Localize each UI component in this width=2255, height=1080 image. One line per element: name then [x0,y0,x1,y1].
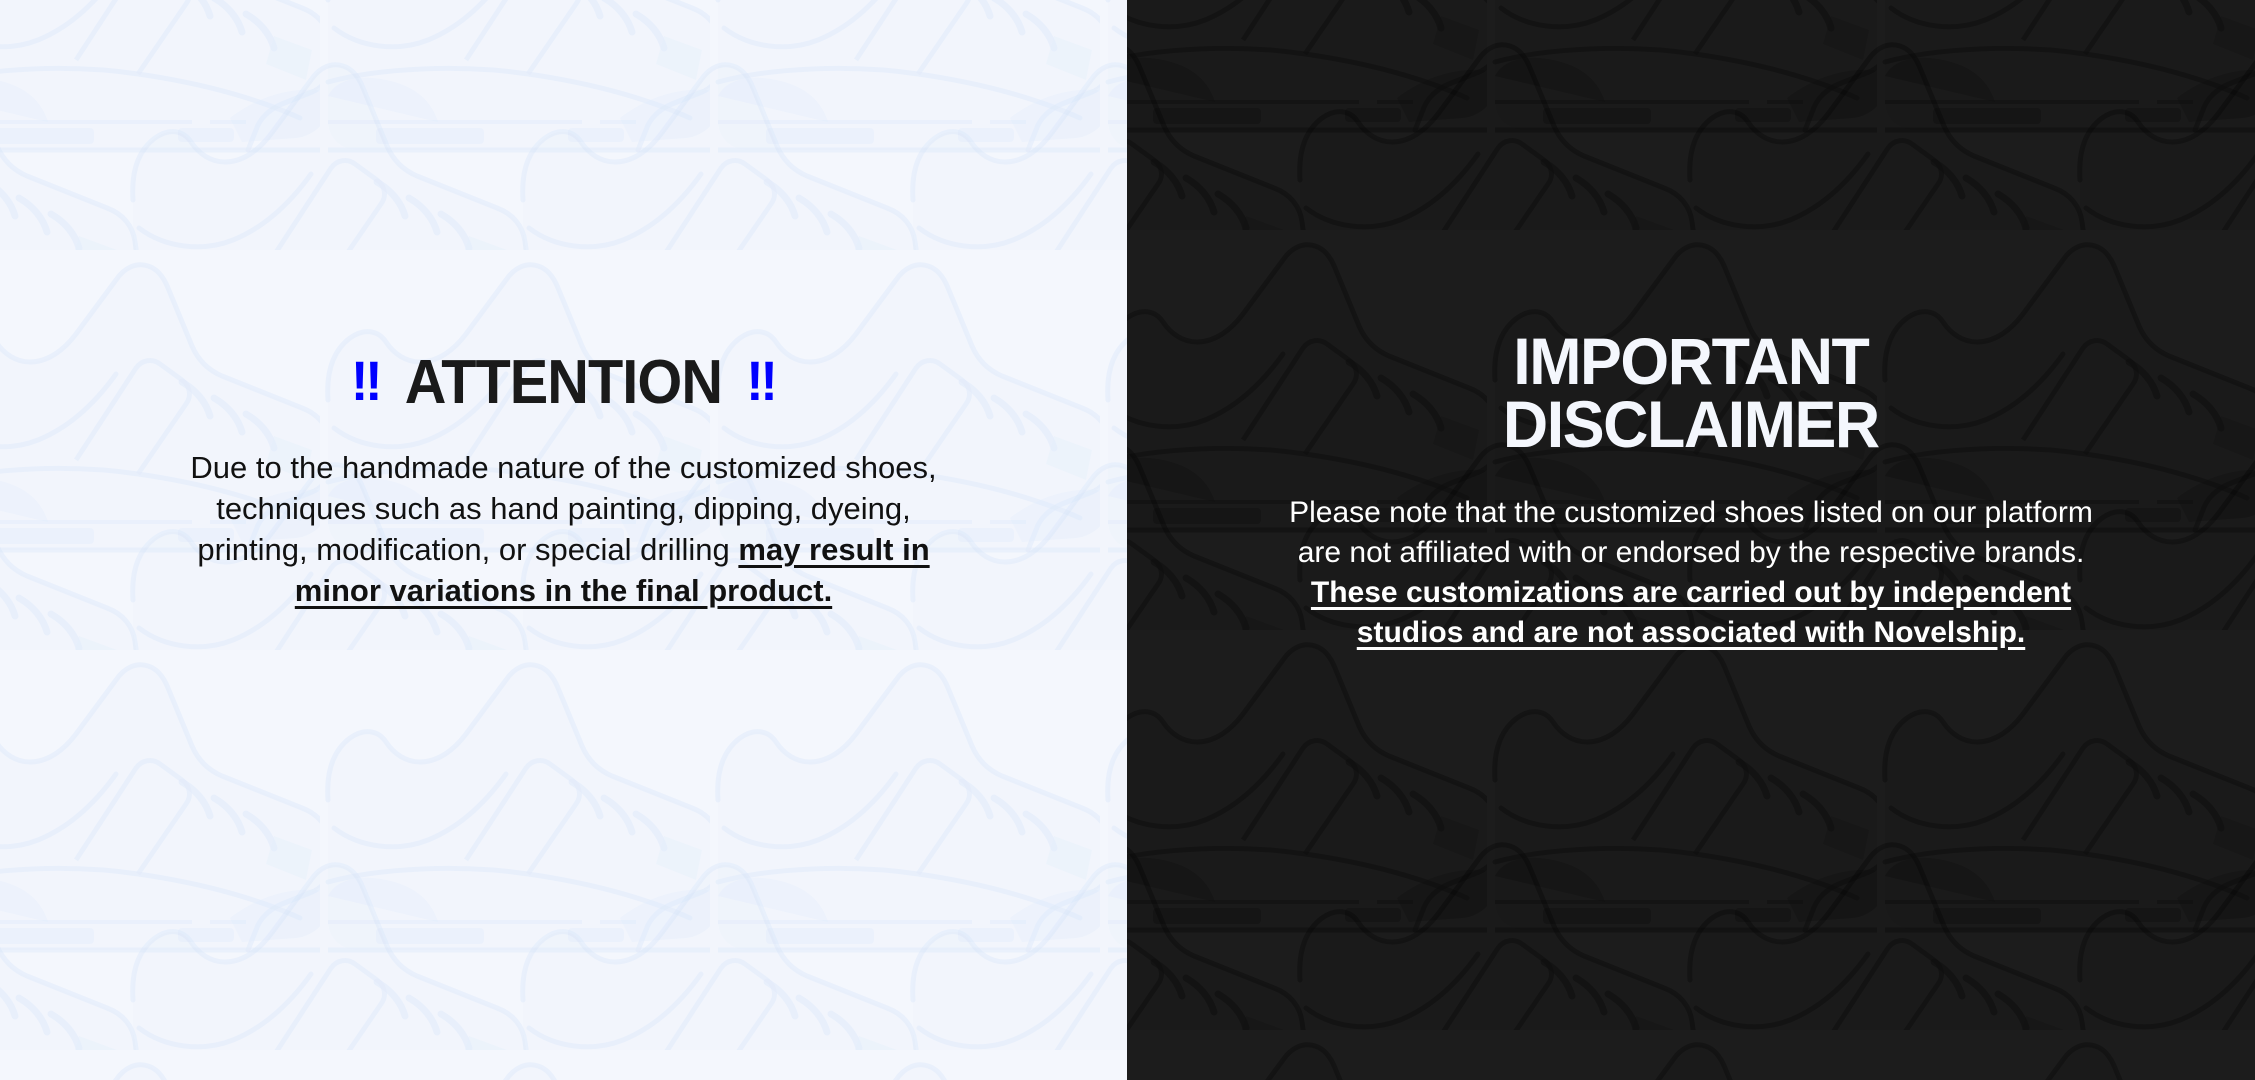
double-exclamation-right-icon: ‼ [746,353,776,409]
disclaimer-panel: IMPORTANT DISCLAIMER Please note that th… [1127,0,2255,1080]
attention-heading-title: ATTENTION [405,352,722,414]
attention-panel: ‼ ATTENTION ‼ Due to the handmade nature… [0,0,1127,1080]
disclaimer-content: IMPORTANT DISCLAIMER Please note that th… [1127,330,2255,653]
disclaimer-heading-line2: DISCLAIMER [1503,387,1879,461]
disclaimer-heading: IMPORTANT DISCLAIMER [1503,330,1879,455]
attention-content: ‼ ATTENTION ‼ Due to the handmade nature… [0,352,1127,612]
attention-heading: ‼ ATTENTION ‼ [351,352,776,414]
double-exclamation-left-icon: ‼ [351,353,381,409]
disclaimer-body-emphasis: These customizations are carried out by … [1311,576,2071,649]
disclaimer-banner: ‼ ATTENTION ‼ Due to the handmade nature… [0,0,2255,1080]
disclaimer-body-normal: Please note that the customized shoes li… [1289,496,2093,569]
attention-body: Due to the handmade nature of the custom… [169,448,959,612]
disclaimer-body: Please note that the customized shoes li… [1286,493,2096,653]
